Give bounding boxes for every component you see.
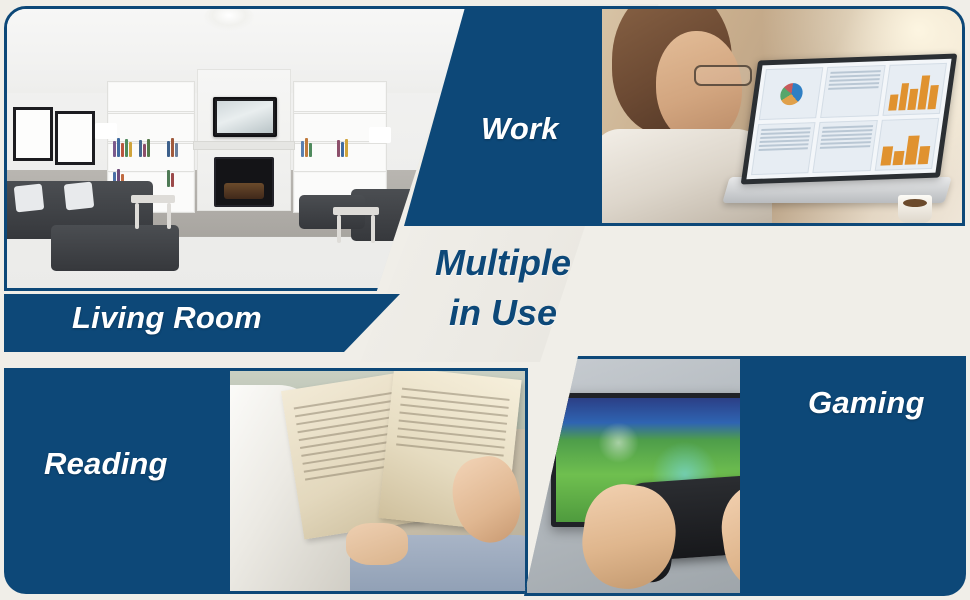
wall-art-right bbox=[55, 111, 95, 165]
chandelier bbox=[203, 6, 255, 31]
book bbox=[345, 139, 348, 157]
book bbox=[117, 138, 120, 157]
side-table-left bbox=[131, 195, 175, 203]
coffee-cup bbox=[898, 195, 932, 223]
text-lines bbox=[758, 127, 811, 151]
pie-chart-widget bbox=[759, 67, 824, 120]
work-scene bbox=[598, 9, 962, 223]
book bbox=[143, 144, 146, 157]
sofa-ottoman bbox=[51, 225, 179, 271]
book bbox=[129, 142, 132, 157]
page-edge-left bbox=[0, 0, 4, 600]
book bbox=[125, 139, 128, 157]
shelf-cell bbox=[293, 111, 387, 114]
table-widget bbox=[751, 122, 816, 175]
firebox bbox=[214, 157, 274, 207]
book bbox=[171, 138, 174, 157]
book bbox=[301, 141, 304, 157]
side-table-left-leg bbox=[167, 203, 171, 229]
text-widget bbox=[820, 65, 885, 118]
book bbox=[113, 141, 116, 157]
book bbox=[139, 140, 142, 157]
throw-pillow bbox=[14, 184, 45, 213]
wall-art-left bbox=[13, 107, 53, 161]
panel-label-gaming: Gaming bbox=[808, 385, 925, 421]
book bbox=[171, 173, 174, 187]
reader-hand-lower bbox=[346, 523, 408, 565]
side-table-right bbox=[333, 207, 379, 215]
page-edge-bottom bbox=[0, 596, 970, 600]
panel-reading-photo bbox=[228, 368, 528, 594]
book bbox=[121, 143, 124, 157]
lifestyle-banner: Living Room Work Mul bbox=[0, 0, 970, 600]
reading-scene bbox=[228, 371, 525, 591]
panel-label-living-room: Living Room bbox=[72, 300, 262, 336]
headline: Multiple in Use bbox=[392, 238, 614, 348]
side-table-right-leg bbox=[371, 215, 375, 243]
panel-label-work: Work bbox=[481, 111, 559, 147]
floor-lamp-shade bbox=[369, 127, 391, 143]
side-table-left-leg bbox=[135, 203, 139, 229]
page-edge-top bbox=[0, 0, 970, 4]
headline-line-1: Multiple bbox=[392, 238, 614, 288]
person-face bbox=[656, 31, 742, 143]
shelf-cell bbox=[107, 111, 195, 114]
throw-pillow bbox=[64, 182, 95, 211]
headline-line-2: in Use bbox=[392, 288, 614, 338]
book bbox=[337, 140, 340, 157]
laptop-screen bbox=[741, 54, 958, 185]
pie-chart-icon bbox=[779, 82, 804, 105]
mantel bbox=[193, 141, 295, 150]
table-widget bbox=[813, 120, 878, 173]
book bbox=[167, 170, 170, 187]
panel-work-photo bbox=[595, 6, 965, 226]
eyeglasses bbox=[694, 65, 752, 86]
book bbox=[309, 143, 312, 157]
floor-lamp-shade bbox=[95, 123, 117, 139]
bar-chart-widget bbox=[882, 63, 947, 116]
text-lines bbox=[820, 125, 873, 149]
bar-chart-widget bbox=[874, 118, 939, 171]
book bbox=[305, 138, 308, 157]
bar-chart-icon bbox=[880, 125, 933, 166]
panel-label-reading: Reading bbox=[44, 446, 168, 482]
wall-mounted-tv bbox=[213, 97, 277, 137]
page-edge-right bbox=[966, 0, 970, 600]
book bbox=[147, 139, 150, 157]
book bbox=[175, 143, 178, 157]
side-table-right-leg bbox=[337, 215, 341, 243]
book bbox=[341, 142, 344, 157]
dashboard-ui bbox=[746, 59, 951, 179]
book bbox=[167, 141, 170, 157]
text-lines bbox=[828, 70, 880, 90]
bar-chart-icon bbox=[888, 70, 941, 111]
